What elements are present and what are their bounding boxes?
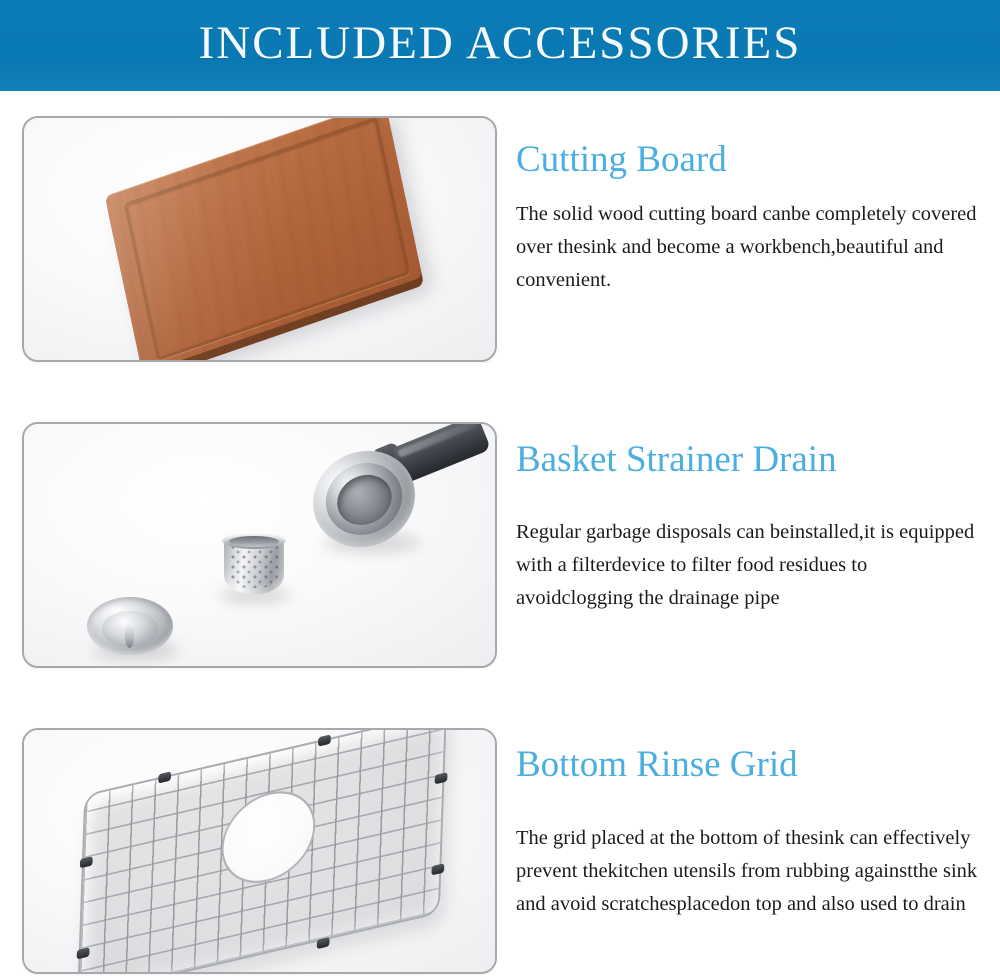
drain-stopper-cap [87,597,173,655]
accessory-image-card-bottom-rinse-grid [22,728,497,974]
basket-mouth [229,536,279,547]
accessory-section-basket-strainer-drain: Basket Strainer Drain Regular garbage di… [0,422,1000,672]
rinse-grid-foot [158,771,171,783]
rinse-grid-drain-cutout [220,782,317,893]
basket-strainer-drain-photo [24,424,495,666]
cutting-board-photo [24,118,495,360]
accessory-title-bottom-rinse-grid: Bottom Rinse Grid [516,746,986,785]
accessory-title-cutting-board: Cutting Board [516,141,986,180]
accessory-description-basket-strainer-drain: Regular garbage disposals can beinstalle… [516,516,986,615]
accessory-image-card-basket-strainer-drain [22,422,497,668]
rinse-grid-foot [80,856,93,868]
drain-parts-illustration [24,424,495,666]
accessory-text-bottom-rinse-grid: Bottom Rinse Grid The grid placed at the… [516,746,986,921]
accessory-text-cutting-board: Cutting Board The solid wood cutting boa… [516,141,986,297]
accessory-section-bottom-rinse-grid: Bottom Rinse Grid The grid placed at the… [0,728,1000,976]
rinse-grid-foot [318,734,331,746]
accessory-text-basket-strainer-drain: Basket Strainer Drain Regular garbage di… [516,441,986,615]
accessory-section-cutting-board: Cutting Board The solid wood cutting boa… [0,116,1000,366]
accessory-description-cutting-board: The solid wood cutting board canbe compl… [516,198,986,297]
accessory-image-card-cutting-board [22,116,497,362]
page-header-banner: INCLUDED ACCESSORIES [0,0,1000,91]
basket-strainer [222,530,286,596]
cutting-board-surface [105,116,423,362]
page-title: INCLUDED ACCESSORIES [199,20,802,71]
basket-perforations [230,544,278,588]
rinse-grid-illustration [77,728,447,974]
rinse-grid-wire-mesh [77,728,447,974]
drain-flange-assembly [296,429,440,566]
bottom-rinse-grid-photo [24,730,495,972]
cutting-board-sheen [105,116,423,362]
rinse-grid-foot [77,947,90,959]
accessory-description-bottom-rinse-grid: The grid placed at the bottom of thesink… [516,822,986,921]
cutting-board-illustration [105,116,427,362]
accessory-title-basket-strainer-drain: Basket Strainer Drain [516,441,986,480]
